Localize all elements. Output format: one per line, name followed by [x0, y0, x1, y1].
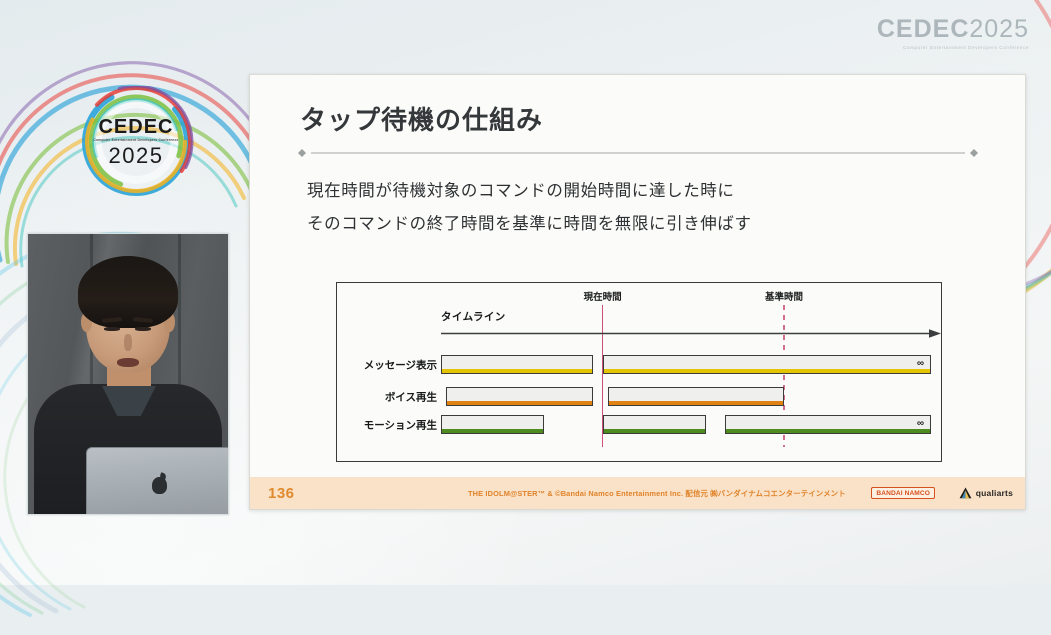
page-number: 136 — [268, 485, 295, 502]
qualiarts-logo: qualiarts — [959, 487, 1013, 499]
speaker-video-feed — [27, 233, 229, 515]
gantt-bar-fill — [726, 429, 930, 434]
gantt-bar — [603, 415, 706, 434]
slide-body-line-1: 現在時間が待機対象のコマンドの開始時間に達した時に — [307, 175, 967, 208]
speaker-mouth — [117, 358, 139, 367]
watermark-cedec: CEDEC — [877, 15, 970, 43]
speaker-nose — [124, 334, 132, 351]
gantt-bar-fill — [609, 401, 783, 406]
gantt-bar — [441, 355, 593, 374]
gantt-row-label: モーション再生 — [364, 418, 437, 433]
watermark-main: CEDEC2025 — [877, 17, 1029, 42]
gantt-bar: ∞ — [725, 415, 931, 434]
slide-body-line-2: そのコマンドの終了時間を基準に時間を無限に引き伸ばす — [307, 208, 967, 241]
watermark-year: 2025 — [969, 15, 1029, 43]
copyright-notice: THE IDOLM@STER™ & ©Bandai Namco Entertai… — [468, 488, 846, 499]
slide-body-text: 現在時間が待機対象のコマンドの開始時間に達した時に そのコマンドの終了時間を基準… — [307, 175, 967, 241]
gantt-bar — [608, 387, 784, 406]
cedec-2025-logo: CEDEC Computer Entertainment Developers … — [77, 86, 195, 198]
gantt-bar — [446, 387, 593, 406]
qualiarts-logo-text: qualiarts — [976, 488, 1013, 498]
presentation-stage: CEDEC Computer Entertainment Developers … — [0, 0, 1051, 585]
infinity-marker-icon: ∞ — [917, 415, 924, 432]
cedec-logo-subtitle: Computer Entertainment Developers Confer… — [93, 139, 178, 142]
qualiarts-triangle-icon — [959, 487, 972, 499]
gantt-bar-fill — [604, 429, 705, 434]
marker-label-reference-time: 基準時間 — [765, 289, 803, 303]
gantt-bar — [441, 415, 544, 434]
bandai-namco-logo: BANDAI NAMCO — [871, 487, 935, 499]
gantt-bar-fill — [447, 401, 592, 406]
title-divider-rule — [293, 148, 983, 158]
timeline-axis-arrow — [441, 329, 941, 338]
marker-label-current-time: 現在時間 — [584, 289, 622, 303]
speaker-hair — [78, 256, 178, 328]
cedec-logo-main: CEDEC — [98, 117, 173, 137]
gantt-bar-fill — [604, 369, 930, 374]
cedec-logo-text: CEDEC Computer Entertainment Developers … — [77, 86, 195, 198]
infinity-marker-icon: ∞ — [917, 355, 924, 372]
timeline-axis-label: タイムライン — [441, 309, 506, 324]
speaker-eye-right — [135, 327, 151, 331]
gantt-row-label: メッセージ表示 — [364, 358, 437, 373]
slide-footer: 136 THE IDOLM@STER™ & ©Bandai Namco Ente… — [250, 477, 1025, 509]
cedec-2025-watermark: CEDEC2025 Computer Entertainment Develop… — [877, 17, 1029, 50]
timeline-gantt-diagram: 現在時間 基準時間 タイムライン メッセージ表示∞ボイス再生モーション再生∞ — [336, 282, 942, 462]
slide-title: タップ待機の仕組み — [300, 100, 543, 137]
gantt-bar-fill — [442, 369, 592, 374]
apple-logo-icon — [152, 477, 167, 494]
speaker-eye-left — [104, 327, 120, 331]
gantt-bar-fill — [442, 429, 543, 434]
gantt-row-label: ボイス再生 — [385, 390, 437, 405]
watermark-subtitle: Computer Entertainment Developers Confer… — [877, 45, 1029, 50]
presentation-slide: タップ待機の仕組み 現在時間が待機対象のコマンドの開始時間に達した時に そのコマ… — [249, 74, 1026, 510]
gantt-bar: ∞ — [603, 355, 931, 374]
cedec-logo-year: 2025 — [109, 145, 164, 167]
